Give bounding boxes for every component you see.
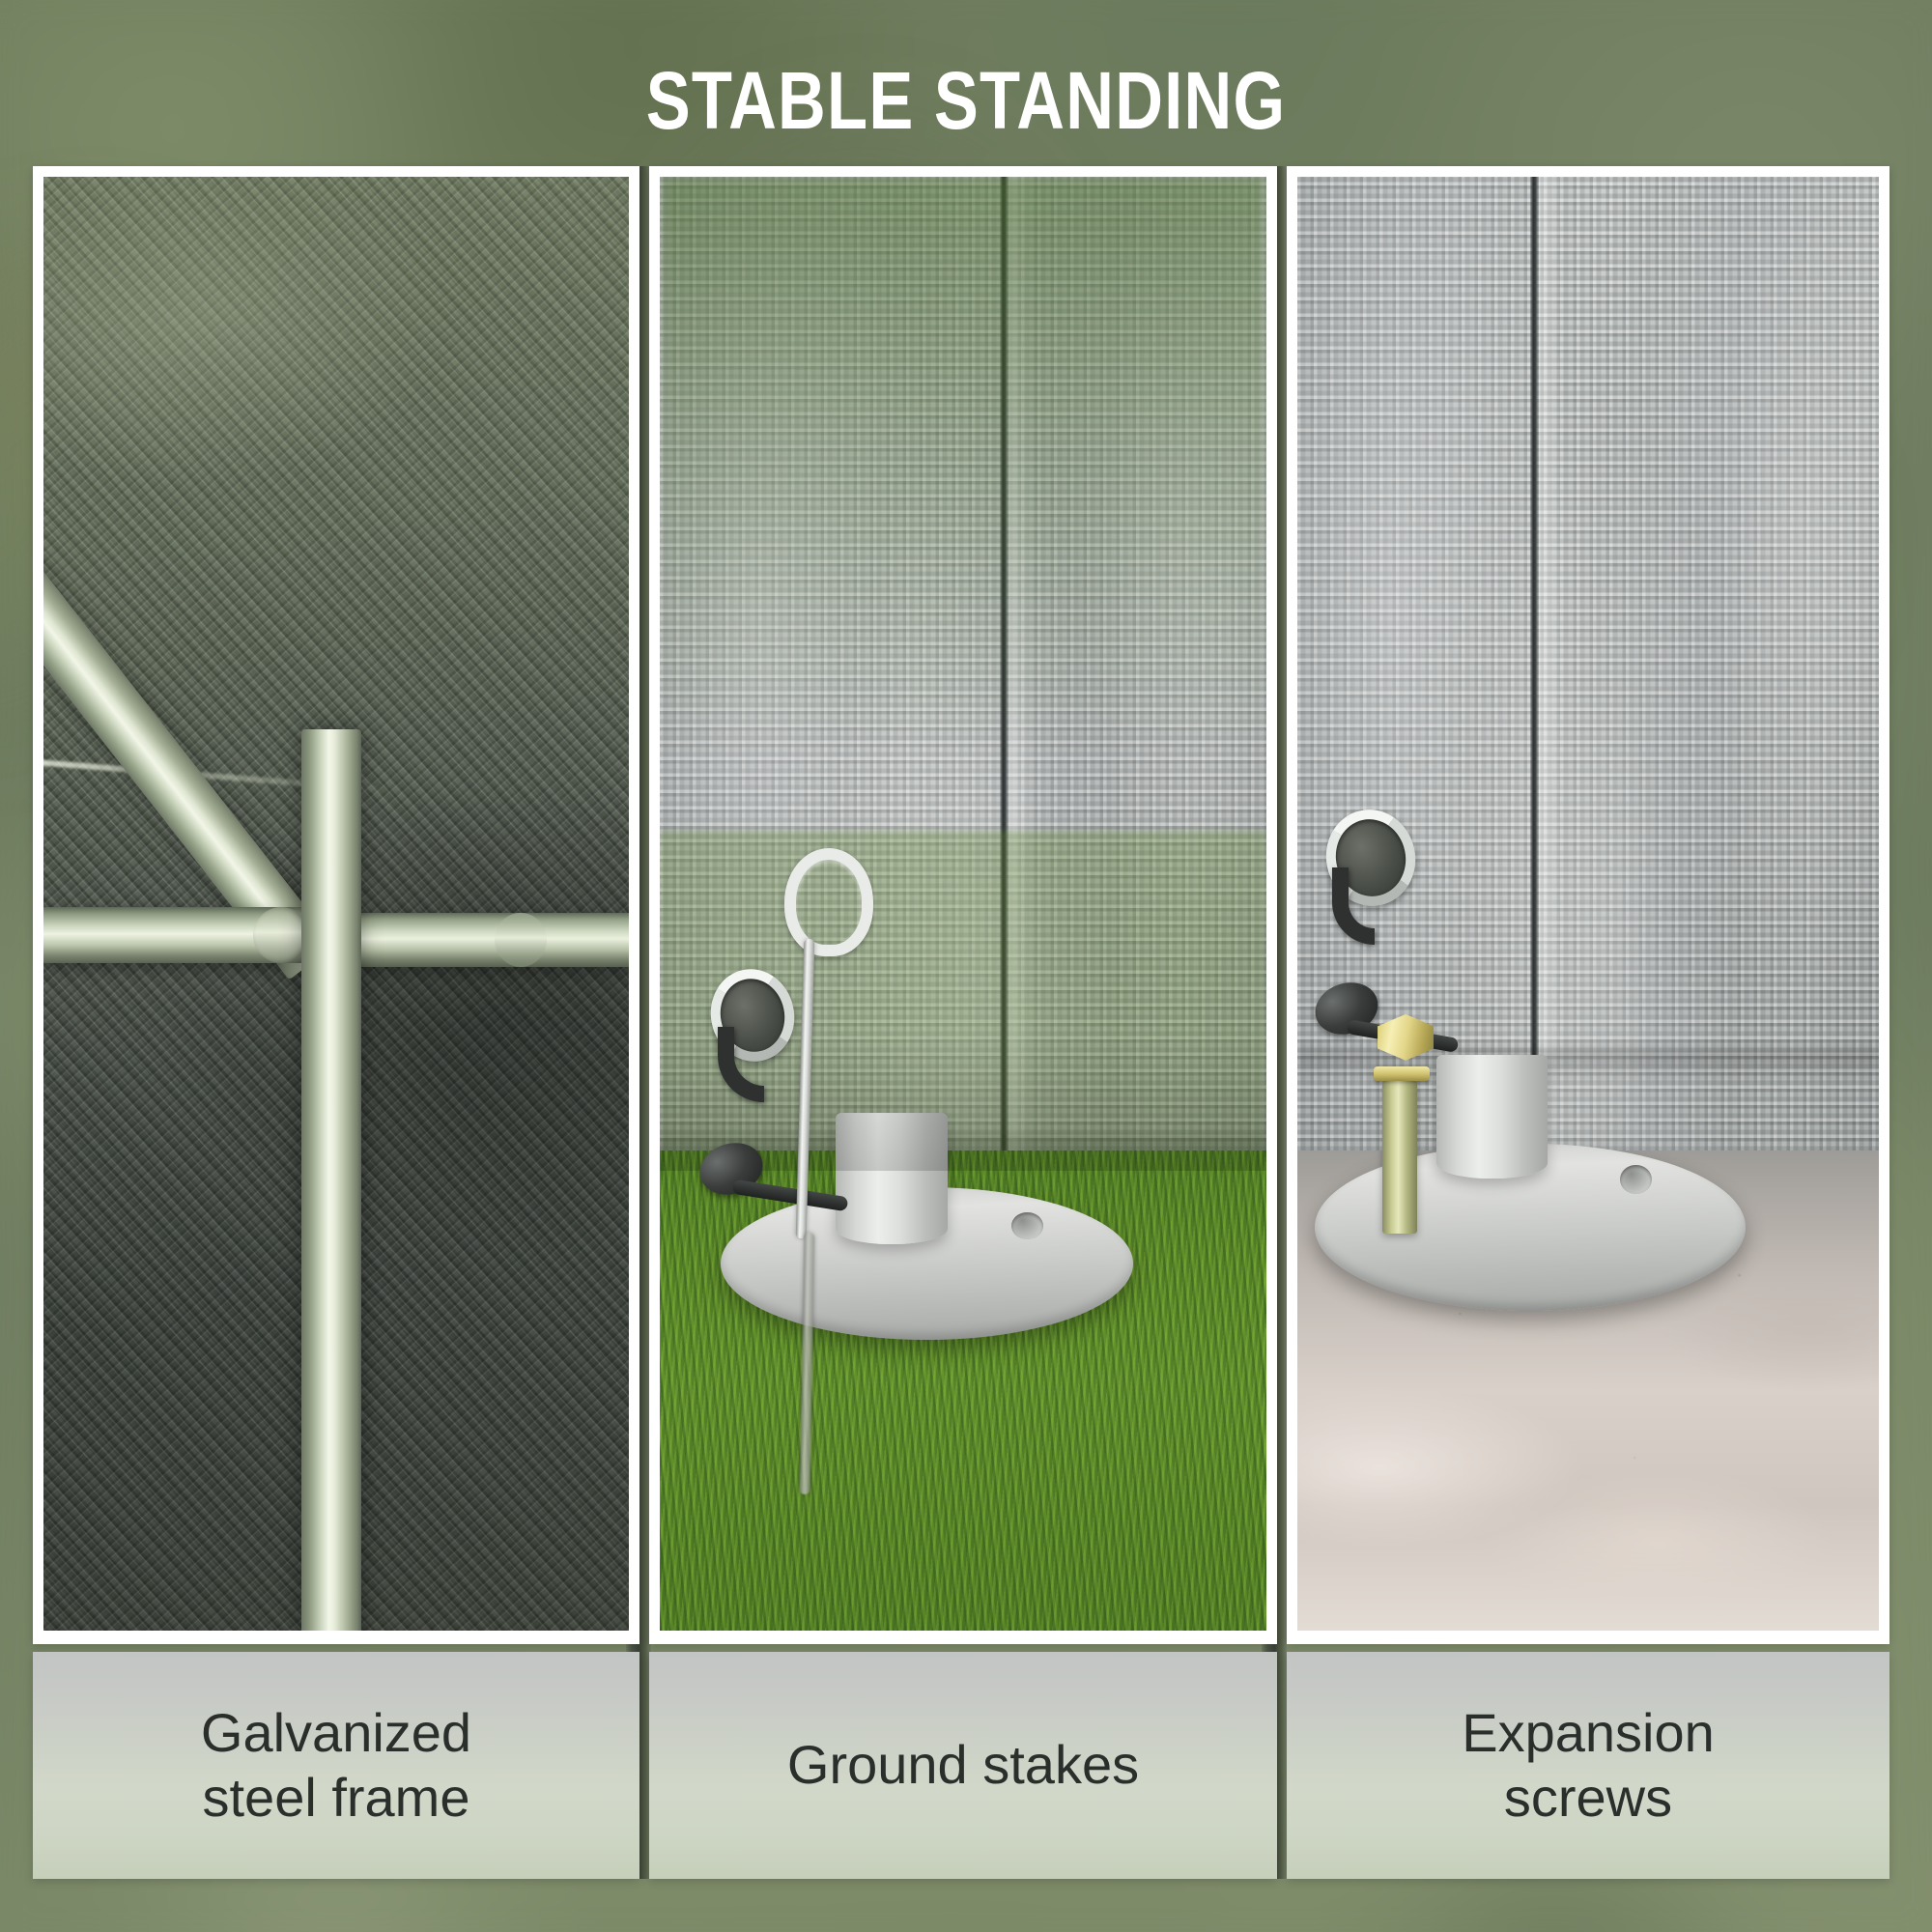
feature-card-ground-stakes[interactable]: Ground stakes (649, 166, 1277, 1879)
caption-panel-3: Expansion screws (1287, 1652, 1889, 1879)
photo-frame-3 (1287, 166, 1889, 1644)
photo-frame-1 (33, 166, 639, 1644)
steel-tube-rail-left-icon (43, 907, 309, 963)
photo-expansion-screws (1297, 177, 1879, 1631)
caption-panel-2: Ground stakes (649, 1652, 1277, 1879)
photo-ground-stakes (660, 177, 1266, 1631)
photo-frame-2 (649, 166, 1277, 1644)
expansion-bolt-shaft-icon (1382, 1081, 1417, 1234)
steel-tube-vertical-icon (301, 729, 361, 1631)
steel-tube-rail-right-icon (342, 913, 629, 967)
support-post-icon (1436, 1055, 1547, 1179)
caption-ground-stakes: Ground stakes (764, 1733, 1162, 1797)
caption-galvanized-steel-frame: Galvanized steel frame (178, 1701, 495, 1829)
feature-card-expansion-screws[interactable]: Expansion screws (1287, 166, 1889, 1879)
photo-galvanized-steel-frame (43, 177, 629, 1631)
caption-expansion-screws: Expansion screws (1438, 1701, 1738, 1829)
base-plate-screw-hole (1011, 1212, 1043, 1240)
page-title: STABLE STANDING (646, 60, 1287, 141)
page-title-bar: STABLE STANDING (0, 44, 1932, 156)
eye-stake-loop-icon (784, 848, 873, 956)
base-plate-screw-hole (1620, 1165, 1652, 1194)
caption-panel-1: Galvanized steel frame (33, 1652, 639, 1879)
feature-card-galvanized-steel-frame[interactable]: Galvanized steel frame (33, 166, 639, 1879)
expansion-bolt-washer-icon (1374, 1066, 1430, 1081)
